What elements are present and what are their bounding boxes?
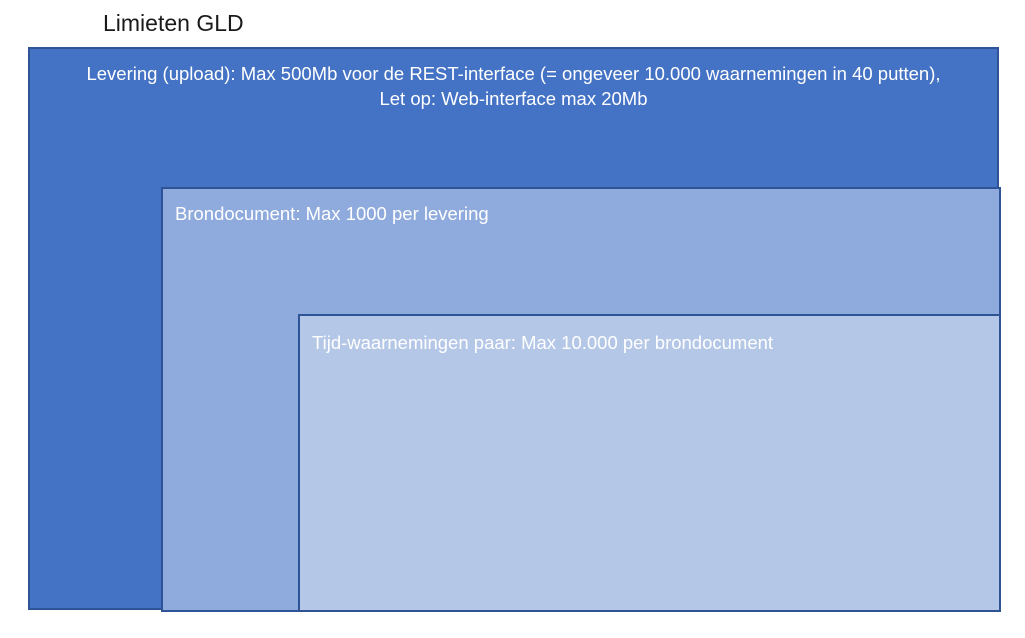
box-brondocument-label: Brondocument: Max 1000 per levering <box>175 201 489 226</box>
box-brondocument: Brondocument: Max 1000 per levering Tijd… <box>161 187 1001 612</box>
page-title: Limieten GLD <box>103 8 244 38</box>
box-tijdwaarnemingen-label: Tijd-waarnemingen paar: Max 10.000 per b… <box>312 330 773 355</box>
box-tijdwaarnemingen: Tijd-waarnemingen paar: Max 10.000 per b… <box>298 314 1001 612</box>
box-levering: Levering (upload): Max 500Mb voor de RES… <box>28 47 999 610</box>
box-levering-label-line-1: Levering (upload): Max 500Mb voor de RES… <box>46 61 981 86</box>
box-levering-label: Levering (upload): Max 500Mb voor de RES… <box>32 61 995 111</box>
box-levering-label-line-2: Let op: Web-interface max 20Mb <box>46 86 981 111</box>
